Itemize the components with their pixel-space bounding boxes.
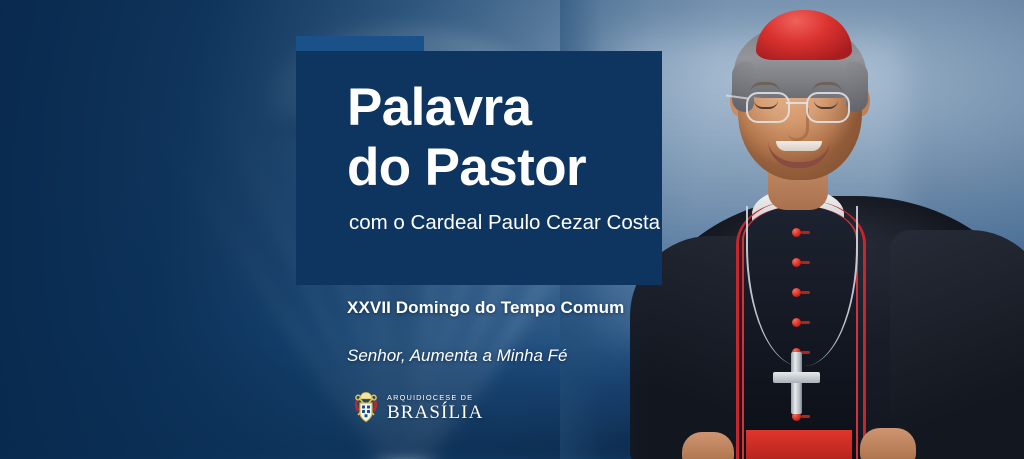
logo-top-line: ARQUIDIOCESE DE: [387, 394, 483, 401]
pectoral-cross-arm: [773, 372, 820, 383]
page-subtitle: com o Cardeal Paulo Cezar Costa: [349, 210, 654, 236]
glasses-lens-left: [746, 92, 790, 123]
archdiocese-logo: ARQUIDIOCESE DE BRASÍLIA: [352, 391, 483, 425]
liturgical-day-label: XXVII Domingo do Tempo Comum: [347, 298, 624, 318]
shoulder-right: [890, 230, 1024, 459]
palavra-do-pastor-banner: Palavra do Pastor com o Cardeal Paulo Ce…: [0, 0, 1024, 459]
zucchetto-icon: [756, 10, 852, 60]
logo-wordmark: ARQUIDIOCESE DE BRASÍLIA: [387, 394, 483, 422]
pectoral-cross-icon: [791, 352, 802, 414]
red-fascia-sash: [746, 430, 852, 459]
hand-right: [860, 428, 916, 459]
glasses-lens-right: [806, 92, 850, 123]
page-title-line-2: do Pastor: [347, 138, 654, 198]
theme-label: Senhor, Aumenta a Minha Fé: [347, 346, 568, 366]
title-card-content: Palavra do Pastor com o Cardeal Paulo Ce…: [347, 78, 654, 236]
glasses-bridge: [786, 102, 808, 104]
page-title-line-1: Palavra: [347, 78, 654, 138]
title-card: Palavra do Pastor com o Cardeal Paulo Ce…: [296, 51, 662, 285]
hand-left: [682, 432, 734, 459]
logo-main-line: BRASÍLIA: [387, 403, 483, 422]
accent-bar: [296, 36, 424, 51]
papal-crest-icon: [352, 391, 380, 425]
